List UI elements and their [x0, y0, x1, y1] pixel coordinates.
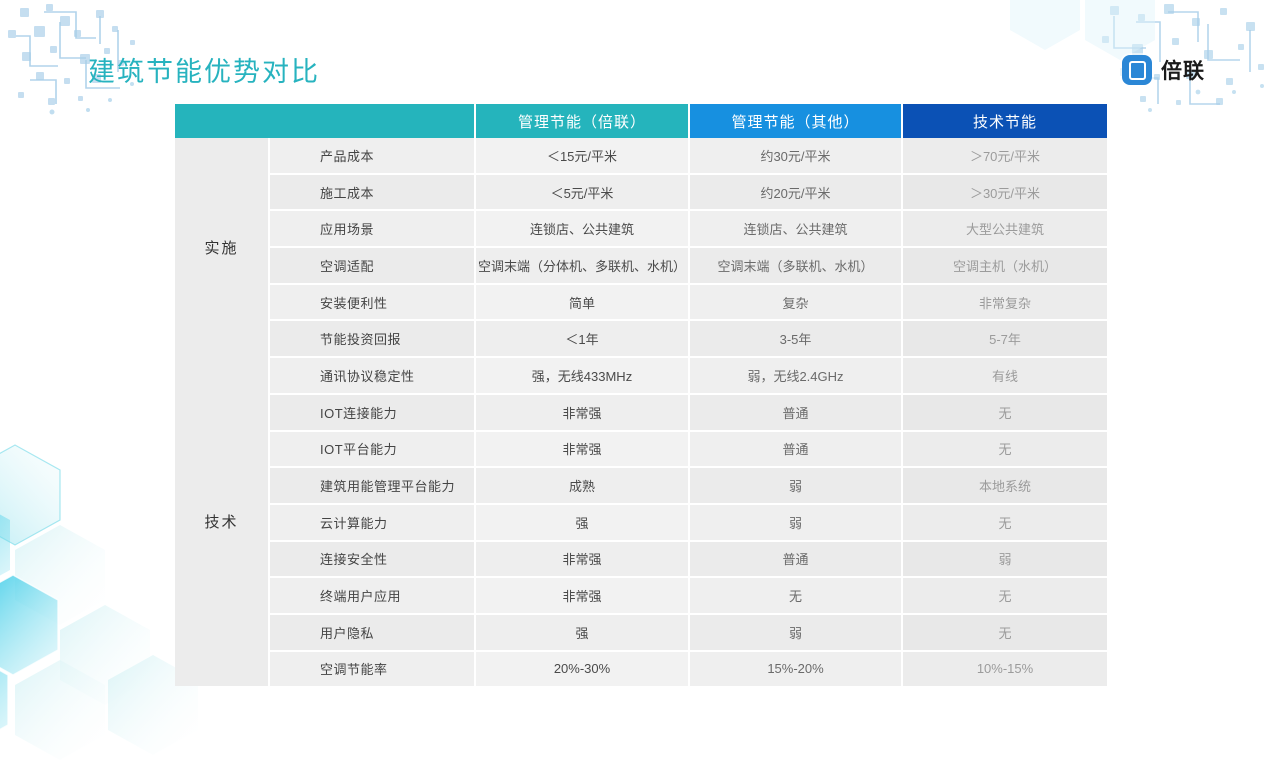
comparison-table: 管理节能（倍联） 管理节能（其他） 技术节能 实施 产品成本 ＜15元/平米 约…	[175, 104, 1107, 686]
table-row: 建筑用能管理平台能力 成熟 弱 本地系统	[175, 467, 1107, 504]
row-label: 节能投资回报	[269, 320, 475, 357]
table-header: 管理节能（倍联） 管理节能（其他） 技术节能	[175, 104, 1107, 138]
cell-others: 普通	[689, 431, 902, 468]
cell-beilian: 非常强	[475, 541, 689, 578]
cell-others: 弱	[689, 467, 902, 504]
cell-others: 约30元/平米	[689, 138, 902, 174]
table-row: 空调适配 空调末端（分体机、多联机、水机） 空调末端（多联机、水机） 空调主机（…	[175, 247, 1107, 284]
cell-beilian: 非常强	[475, 394, 689, 431]
group-label-technology: 技术	[175, 357, 269, 686]
header-cell-others: 管理节能（其他）	[689, 104, 902, 138]
table-row: 实施 产品成本 ＜15元/平米 约30元/平米 ＞70元/平米	[175, 138, 1107, 174]
cell-technical: 非常复杂	[902, 284, 1107, 321]
cell-beilian: 强，无线433MHz	[475, 357, 689, 394]
cell-others: 弱	[689, 504, 902, 541]
header-cell-beilian: 管理节能（倍联）	[475, 104, 689, 138]
table-row: IOT连接能力 非常强 普通 无	[175, 394, 1107, 431]
row-label: 云计算能力	[269, 504, 475, 541]
table-row: 空调节能率 20%-30% 15%-20% 10%-15%	[175, 651, 1107, 687]
cell-technical: ＞30元/平米	[902, 174, 1107, 211]
cell-beilian: 强	[475, 504, 689, 541]
cell-others: 弱	[689, 614, 902, 651]
table-row: 施工成本 ＜5元/平米 约20元/平米 ＞30元/平米	[175, 174, 1107, 211]
row-label: 终端用户应用	[269, 577, 475, 614]
cell-technical: 10%-15%	[902, 651, 1107, 687]
cell-others: 连锁店、公共建筑	[689, 210, 902, 247]
cell-technical: 无	[902, 614, 1107, 651]
row-label: 通讯协议稳定性	[269, 357, 475, 394]
cell-technical: 无	[902, 394, 1107, 431]
cell-technical: 无	[902, 504, 1107, 541]
table-row: 节能投资回报 ＜1年 3-5年 5-7年	[175, 320, 1107, 357]
cell-beilian: 成熟	[475, 467, 689, 504]
cell-others: 复杂	[689, 284, 902, 321]
table-row: 连接安全性 非常强 普通 弱	[175, 541, 1107, 578]
cell-beilian: 连锁店、公共建筑	[475, 210, 689, 247]
header-cell-blank	[175, 104, 475, 138]
cell-beilian: ＜5元/平米	[475, 174, 689, 211]
cell-others: 空调末端（多联机、水机）	[689, 247, 902, 284]
cell-technical: 空调主机（水机）	[902, 247, 1107, 284]
table-row: 用户隐私 强 弱 无	[175, 614, 1107, 651]
cell-others: 约20元/平米	[689, 174, 902, 211]
table-row: IOT平台能力 非常强 普通 无	[175, 431, 1107, 468]
cell-beilian: 强	[475, 614, 689, 651]
header-row: 管理节能（倍联） 管理节能（其他） 技术节能	[175, 104, 1107, 138]
cell-technical: 大型公共建筑	[902, 210, 1107, 247]
cell-beilian: 20%-30%	[475, 651, 689, 687]
cell-technical: ＞70元/平米	[902, 138, 1107, 174]
table-row: 终端用户应用 非常强 无 无	[175, 577, 1107, 614]
cell-others: 普通	[689, 541, 902, 578]
row-label: 建筑用能管理平台能力	[269, 467, 475, 504]
brand-name: 倍联	[1161, 55, 1205, 85]
cell-technical: 无	[902, 577, 1107, 614]
cell-beilian: 非常强	[475, 577, 689, 614]
table-row: 安装便利性 简单 复杂 非常复杂	[175, 284, 1107, 321]
cell-others: 普通	[689, 394, 902, 431]
cell-technical: 无	[902, 431, 1107, 468]
row-label: IOT平台能力	[269, 431, 475, 468]
page-title: 建筑节能优势对比	[88, 50, 320, 89]
brand-logo: 倍联	[1122, 55, 1205, 85]
row-label: 施工成本	[269, 174, 475, 211]
row-label: 空调适配	[269, 247, 475, 284]
cell-others: 3-5年	[689, 320, 902, 357]
table-body: 实施 产品成本 ＜15元/平米 约30元/平米 ＞70元/平米 施工成本 ＜5元…	[175, 138, 1107, 686]
cell-technical: 弱	[902, 541, 1107, 578]
table-row: 云计算能力 强 弱 无	[175, 504, 1107, 541]
row-label: 安装便利性	[269, 284, 475, 321]
cell-beilian: 简单	[475, 284, 689, 321]
cell-beilian: 空调末端（分体机、多联机、水机）	[475, 247, 689, 284]
group-label-implementation: 实施	[175, 138, 269, 357]
cell-technical: 有线	[902, 357, 1107, 394]
row-label: 应用场景	[269, 210, 475, 247]
row-label: 产品成本	[269, 138, 475, 174]
table-row: 应用场景 连锁店、公共建筑 连锁店、公共建筑 大型公共建筑	[175, 210, 1107, 247]
cell-others: 15%-20%	[689, 651, 902, 687]
cell-technical: 本地系统	[902, 467, 1107, 504]
row-label: 用户隐私	[269, 614, 475, 651]
row-label: 连接安全性	[269, 541, 475, 578]
cell-beilian: 非常强	[475, 431, 689, 468]
cell-others: 无	[689, 577, 902, 614]
row-label: 空调节能率	[269, 651, 475, 687]
brand-mark-icon	[1122, 55, 1152, 85]
row-label: IOT连接能力	[269, 394, 475, 431]
header-cell-technical: 技术节能	[902, 104, 1107, 138]
cell-others: 弱，无线2.4GHz	[689, 357, 902, 394]
cell-technical: 5-7年	[902, 320, 1107, 357]
cell-beilian: ＜1年	[475, 320, 689, 357]
table-row: 技术 通讯协议稳定性 强，无线433MHz 弱，无线2.4GHz 有线	[175, 357, 1107, 394]
cell-beilian: ＜15元/平米	[475, 138, 689, 174]
comparison-table-wrap: 管理节能（倍联） 管理节能（其他） 技术节能 实施 产品成本 ＜15元/平米 约…	[175, 104, 1107, 686]
